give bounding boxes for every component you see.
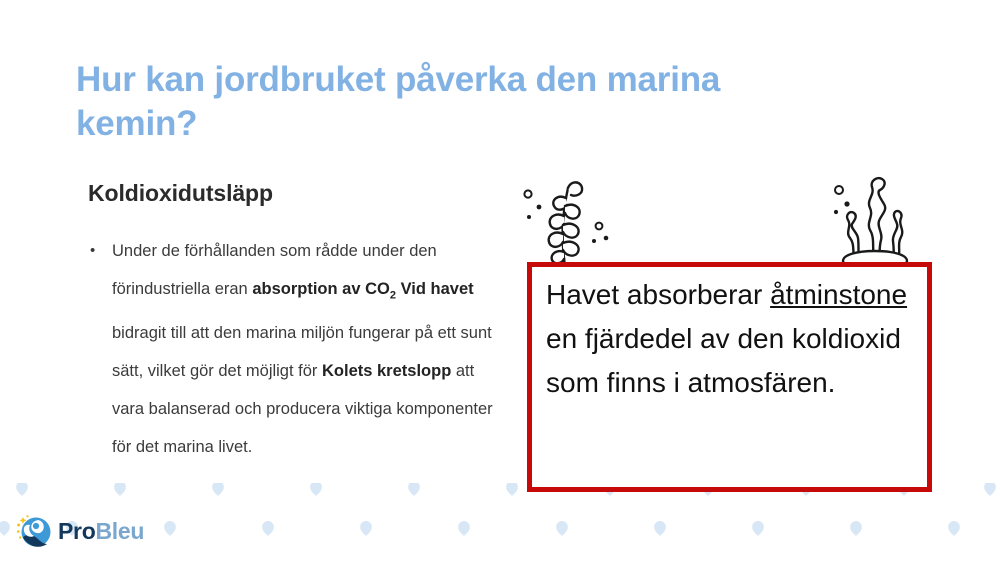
bullet-list: • Under de förhållanden som rådde under … bbox=[88, 232, 506, 466]
bullet-marker-icon: • bbox=[88, 232, 112, 270]
list-item: • Under de förhållanden som rådde under … bbox=[88, 232, 506, 466]
kelp-seaweed-icon bbox=[822, 168, 928, 273]
slide-canvas: Hur kan jordbruket påverka den marina ke… bbox=[0, 0, 1000, 563]
problue-logo[interactable]: ProBleu bbox=[16, 513, 144, 549]
fern-seaweed-icon bbox=[518, 176, 614, 273]
footer-decoration bbox=[0, 483, 1000, 563]
page-title: Hur kan jordbruket påverka den marina ke… bbox=[76, 58, 776, 146]
section-heading: Koldioxidutsläpp bbox=[88, 180, 273, 207]
problue-wordmark: ProBleu bbox=[58, 520, 144, 543]
droplet-pattern bbox=[0, 483, 1000, 563]
logo-word-pro: Pro bbox=[58, 518, 95, 544]
callout-text: Havet absorberar åtminstone en fjärdedel… bbox=[546, 273, 919, 405]
callout-box: Havet absorberar åtminstone en fjärdedel… bbox=[527, 262, 932, 492]
bullet-item-text: Under de förhållanden som rådde under de… bbox=[112, 232, 506, 466]
problue-globe-icon bbox=[16, 513, 52, 549]
logo-word-bleu: Bleu bbox=[95, 518, 144, 544]
